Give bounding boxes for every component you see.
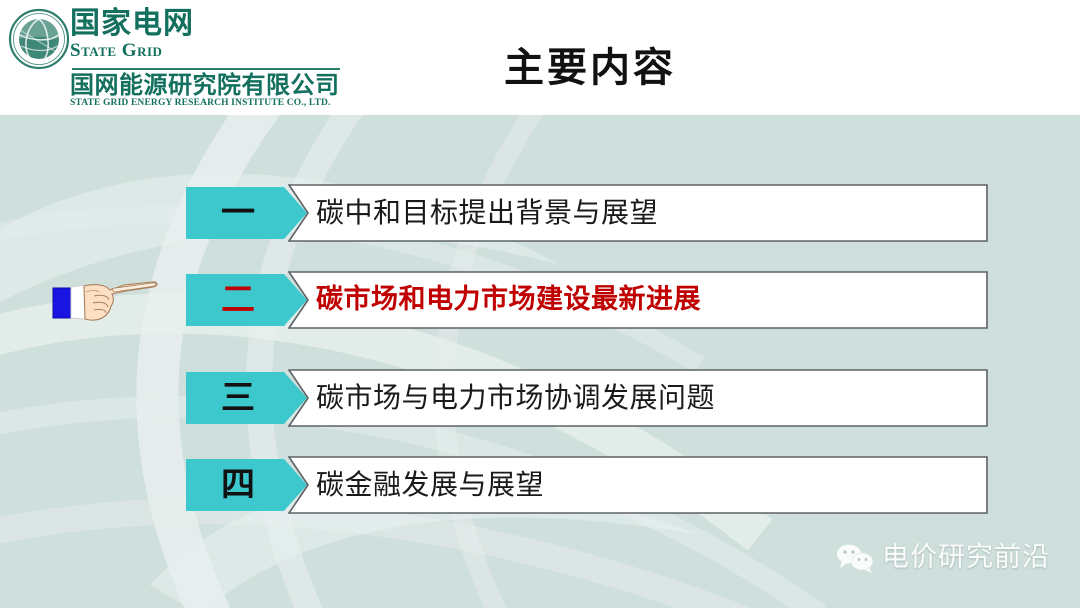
row-label: 碳中和目标提出背景与展望 <box>316 184 658 242</box>
presentation-slide: 国家电网 State Grid 国网能源研究院有限公司 STATE GRID E… <box>0 0 1080 608</box>
logo-secondary-cn: 国网能源研究院有限公司 <box>70 72 340 98</box>
list-item[interactable]: 四 碳金融发展与展望 <box>186 456 988 514</box>
row-numeral: 三 <box>186 372 290 424</box>
slide-header: 国家电网 State Grid 国网能源研究院有限公司 STATE GRID E… <box>0 0 1080 115</box>
row-numeral: 一 <box>186 187 290 239</box>
page-title: 主要内容 <box>380 44 800 92</box>
wechat-logo-icon <box>836 543 874 573</box>
row-numeral: 二 <box>186 274 290 326</box>
row-numeral: 四 <box>186 459 290 511</box>
logo-divider-rule <box>72 68 340 70</box>
logo-primary-en: State Grid <box>70 40 350 61</box>
logo-primary-cn: 国家电网 <box>70 8 350 40</box>
state-grid-globe-emblem-icon <box>8 8 70 70</box>
list-item[interactable]: 三 碳市场与电力市场协调发展问题 <box>186 369 988 427</box>
pointing-hand-right-icon <box>52 272 164 328</box>
list-item[interactable]: 一 碳中和目标提出背景与展望 <box>186 184 988 242</box>
logo-wordmark-primary: 国家电网 State Grid <box>70 8 350 61</box>
logo-secondary-en: STATE GRID ENERGY RESEARCH INSTITUTE CO.… <box>70 98 331 109</box>
watermark-text: 电价研究前沿 <box>882 543 1050 573</box>
row-label: 碳金融发展与展望 <box>316 456 544 514</box>
row-label: 碳市场和电力市场建设最新进展 <box>316 271 701 329</box>
row-label: 碳市场与电力市场协调发展问题 <box>316 369 715 427</box>
watermark: 电价研究前沿 <box>836 538 1050 578</box>
list-item[interactable]: 二 碳市场和电力市场建设最新进展 <box>186 271 988 329</box>
